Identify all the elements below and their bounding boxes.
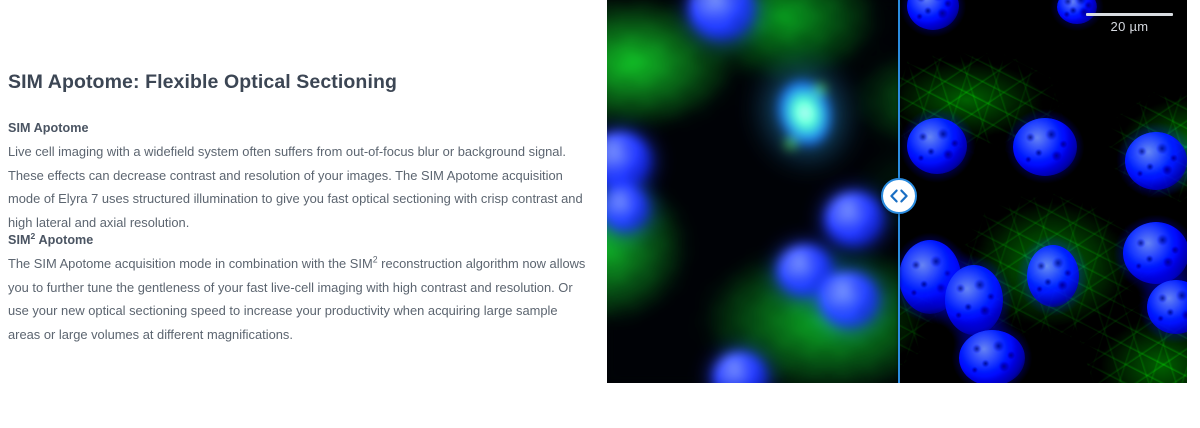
- nucleus: [1013, 118, 1077, 176]
- nucleus: [1027, 245, 1079, 307]
- section-heading: SIM2 Apotome: [8, 231, 588, 249]
- comparison-figure[interactable]: 20 µm SIM2 Apotome: Comparison of widefi…: [607, 0, 1187, 383]
- nucleus: [959, 330, 1025, 383]
- microtubule-channel: [898, 0, 1187, 383]
- section-heading-text: SIM Apotome: [8, 121, 89, 135]
- text-column: SIM Apotome: Flexible Optical Sectioning…: [0, 0, 600, 428]
- section-heading: SIM Apotome: [8, 119, 588, 137]
- chevron-left-right-icon: [889, 189, 909, 203]
- section-body-text: Live cell imaging with a widefield syste…: [8, 144, 583, 230]
- section-heading-suffix: Apotome: [35, 233, 93, 247]
- scale-bar-label: 20 µm: [1086, 18, 1173, 35]
- nucleus: [945, 265, 1003, 335]
- section-body: The SIM Apotome acquisition mode in comb…: [8, 252, 588, 346]
- nucleus: [1125, 132, 1187, 190]
- section-sim2-apotome: SIM2 Apotome The SIM Apotome acquisition…: [8, 231, 588, 346]
- sim2-apotome-pane: [898, 0, 1187, 383]
- micrograph-image: 20 µm: [607, 0, 1187, 383]
- spindle-pole: [812, 82, 828, 97]
- microtubule-fibers: [898, 0, 1187, 383]
- media-column: 20 µm SIM2 Apotome: Comparison of widefi…: [607, 0, 1187, 428]
- section-body-part1: The SIM Apotome acquisition mode in comb…: [8, 256, 373, 271]
- scale-bar-line: [1086, 13, 1173, 16]
- widefield-pane: [607, 0, 898, 383]
- section-sim-apotome: SIM Apotome Live cell imaging with a wid…: [8, 119, 588, 234]
- scale-bar: 20 µm: [1086, 13, 1173, 35]
- nucleus: [819, 272, 879, 328]
- comparison-slider-handle[interactable]: [881, 178, 917, 214]
- product-feature-panel: SIM Apotome: Flexible Optical Sectioning…: [0, 0, 1200, 428]
- section-heading-prefix: SIM: [8, 233, 31, 247]
- page-title: SIM Apotome: Flexible Optical Sectioning: [8, 69, 583, 95]
- sim2-render: [898, 0, 1187, 383]
- widefield-render: [607, 0, 898, 383]
- nucleus: [825, 192, 883, 246]
- nucleus: [907, 118, 967, 174]
- section-body: Live cell imaging with a widefield syste…: [8, 140, 588, 234]
- spindle-pole: [783, 136, 799, 151]
- nucleus: [1123, 222, 1187, 284]
